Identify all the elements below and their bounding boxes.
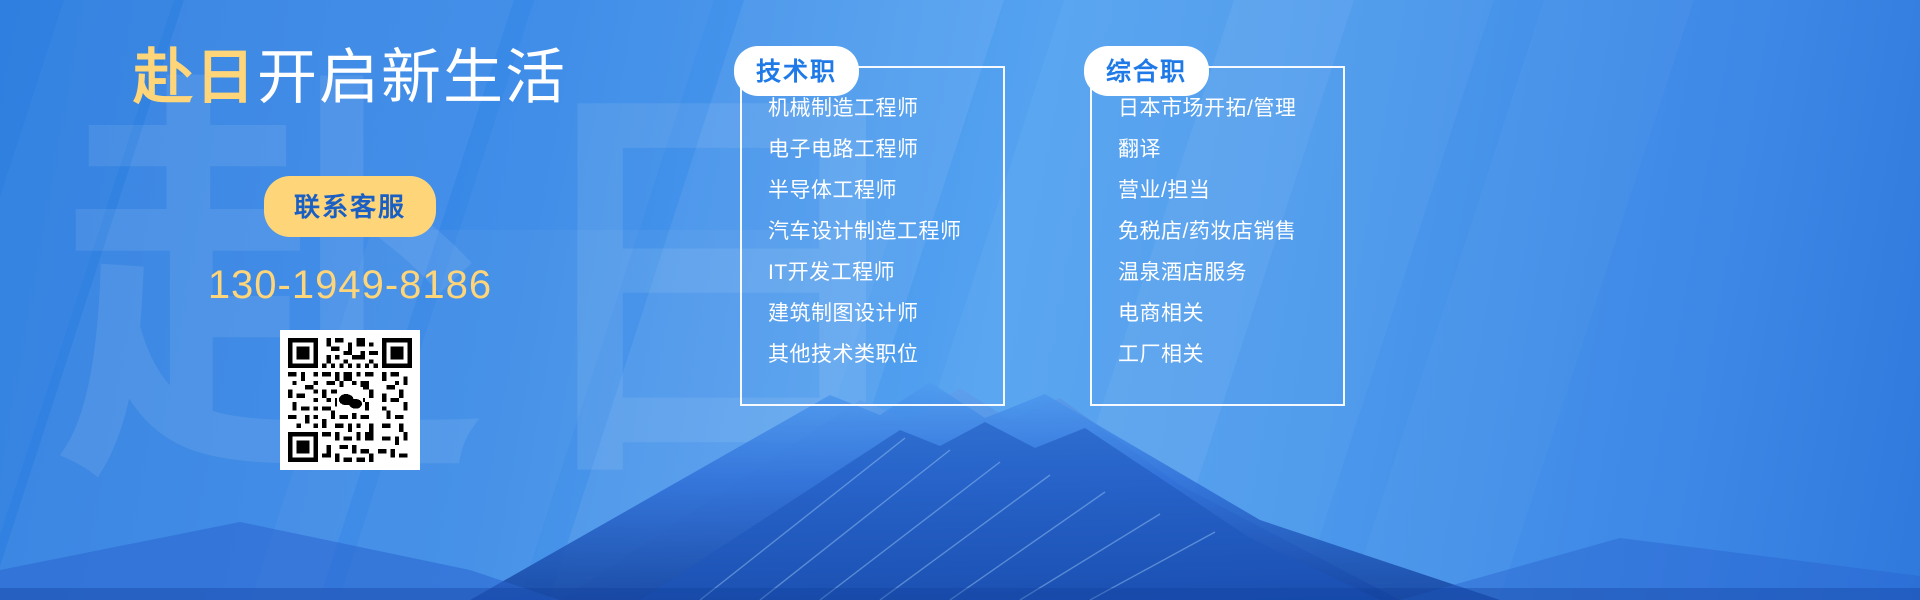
list-item[interactable]: 日本市场开拓/管理 (1118, 98, 1343, 119)
list-item[interactable]: 半导体工程师 (768, 180, 1003, 201)
list-item[interactable]: 汽车设计制造工程师 (768, 221, 1003, 242)
list-item[interactable]: 营业/担当 (1118, 180, 1343, 201)
job-category-badge-general: 综合职 (1084, 46, 1209, 96)
qr-code (280, 330, 420, 470)
list-item[interactable]: IT开发工程师 (768, 262, 1003, 283)
list-item[interactable]: 其他技术类职位 (768, 344, 1003, 365)
list-item[interactable]: 温泉酒店服务 (1118, 262, 1343, 283)
list-item[interactable]: 工厂相关 (1118, 344, 1343, 365)
banner-stage: 赴日 (0, 0, 1920, 600)
list-item[interactable]: 电子电路工程师 (768, 139, 1003, 160)
page-title: 赴日开启新生活 (133, 42, 567, 114)
list-item[interactable]: 机械制造工程师 (768, 98, 1003, 119)
headline-accent: 赴日 (133, 44, 257, 111)
contact-support-button[interactable]: 联系客服 (264, 176, 436, 237)
qr-code-image (288, 338, 412, 462)
job-list-general: 日本市场开拓/管理 翻译 营业/担当 免税店/药妆店销售 温泉酒店服务 电商相关… (1118, 98, 1343, 365)
headline-main: 开启新生活 (257, 44, 567, 111)
list-item[interactable]: 建筑制图设计师 (768, 303, 1003, 324)
job-column-technical: 技术职 机械制造工程师 电子电路工程师 半导体工程师 汽车设计制造工程师 IT开… (740, 66, 1005, 406)
job-box-general: 综合职 日本市场开拓/管理 翻译 营业/担当 免税店/药妆店销售 温泉酒店服务 … (1090, 66, 1345, 406)
left-promo-panel: 赴日开启新生活 联系客服 130-1949-8186 (0, 0, 700, 600)
job-list-technical: 机械制造工程师 电子电路工程师 半导体工程师 汽车设计制造工程师 IT开发工程师… (768, 98, 1003, 365)
job-column-general: 综合职 日本市场开拓/管理 翻译 营业/担当 免税店/药妆店销售 温泉酒店服务 … (1090, 66, 1345, 406)
list-item[interactable]: 翻译 (1118, 139, 1343, 160)
job-category-badge-technical: 技术职 (734, 46, 859, 96)
job-box-technical: 技术职 机械制造工程师 电子电路工程师 半导体工程师 汽车设计制造工程师 IT开… (740, 66, 1005, 406)
list-item[interactable]: 免税店/药妆店销售 (1118, 221, 1343, 242)
list-item[interactable]: 电商相关 (1118, 303, 1343, 324)
phone-number[interactable]: 130-1949-8186 (208, 263, 492, 308)
